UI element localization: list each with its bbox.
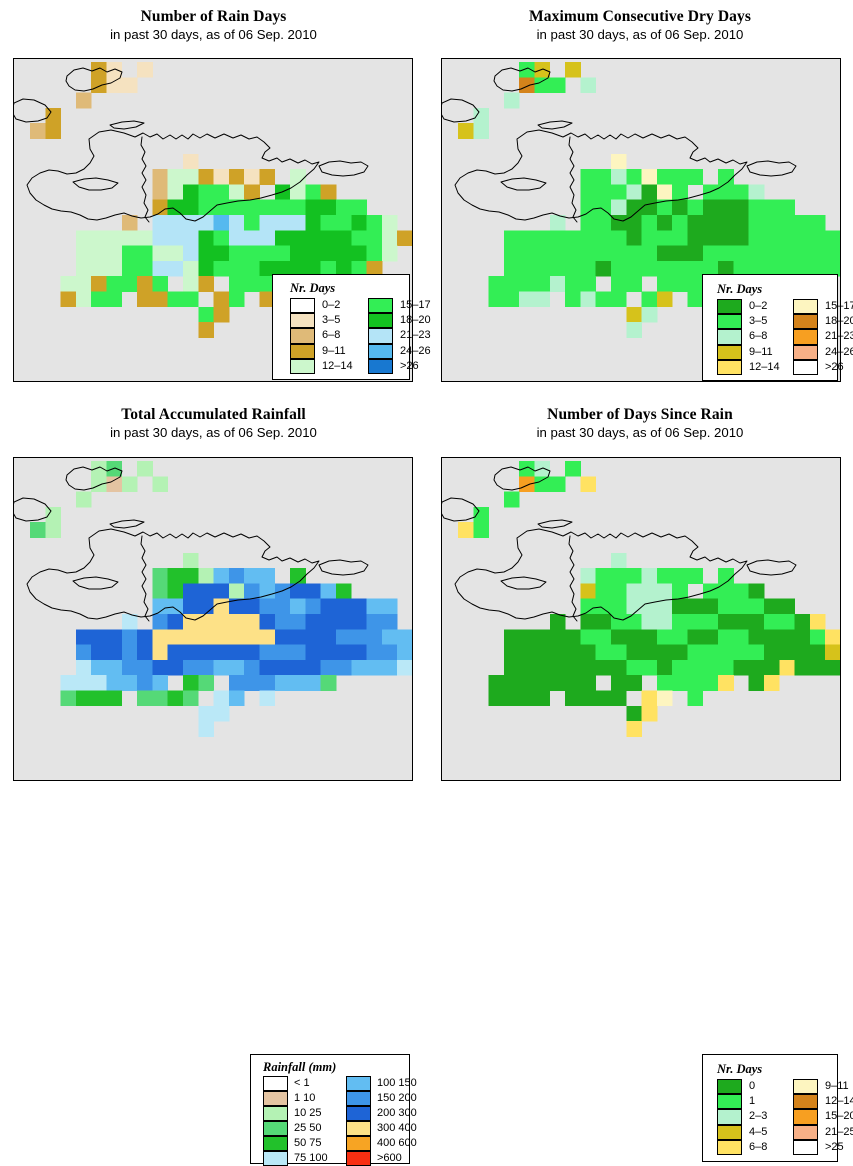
legend-swatch bbox=[263, 1106, 288, 1121]
heatmap-cell bbox=[703, 246, 719, 262]
heatmap-cell bbox=[504, 675, 520, 691]
heatmap-cell bbox=[642, 614, 658, 630]
heatmap-cell bbox=[596, 660, 612, 676]
heatmap-cell bbox=[229, 645, 245, 661]
heatmap-cell bbox=[764, 246, 780, 262]
legend-swatch bbox=[793, 1079, 818, 1094]
heatmap-cell bbox=[642, 307, 658, 323]
heatmap-cell bbox=[764, 614, 780, 630]
heatmap-cell bbox=[795, 215, 811, 231]
heatmap-cell bbox=[733, 629, 749, 645]
heatmap-cell bbox=[229, 276, 245, 292]
legend-entry: 75 100 bbox=[263, 1151, 346, 1166]
legend-label: 6–8 bbox=[742, 1140, 793, 1155]
heatmap-cell bbox=[260, 614, 276, 630]
heatmap-cell bbox=[244, 645, 260, 661]
legend-label: 9–11 bbox=[742, 345, 793, 360]
legend-label: 24–26 bbox=[818, 345, 853, 360]
heatmap-cell bbox=[321, 583, 337, 599]
heatmap-cell bbox=[168, 230, 184, 246]
heatmap-cell bbox=[91, 261, 107, 277]
heatmap-cell bbox=[45, 108, 61, 124]
heatmap-cell bbox=[535, 691, 551, 707]
heatmap-cell bbox=[580, 246, 596, 262]
heatmap-cell bbox=[504, 292, 520, 308]
heatmap-cell bbox=[749, 215, 765, 231]
heatmap-cell bbox=[275, 215, 291, 231]
legend-label: >26 bbox=[818, 360, 853, 375]
heatmap-cell bbox=[107, 660, 123, 676]
legend-entry: 15–17 bbox=[793, 299, 853, 314]
heatmap-cell bbox=[703, 215, 719, 231]
heatmap-cell bbox=[137, 675, 153, 691]
heatmap-cell bbox=[779, 660, 795, 676]
legend-entry: 1 10 bbox=[263, 1091, 346, 1106]
coastline-hispaniola-inner-bay bbox=[501, 178, 546, 190]
heatmap-cell bbox=[229, 215, 245, 231]
heatmap-cell bbox=[688, 292, 704, 308]
heatmap-cell bbox=[290, 629, 306, 645]
heatmap-cell bbox=[183, 660, 199, 676]
heatmap-cell bbox=[672, 614, 688, 630]
legend-columns: < 11 1010 2525 5050 7575 100100 150150 2… bbox=[263, 1076, 409, 1166]
heatmap-cell bbox=[626, 169, 642, 185]
legend-label: 15–17 bbox=[393, 298, 446, 313]
heatmap-cell bbox=[611, 169, 627, 185]
legend-entry: >25 bbox=[793, 1140, 853, 1155]
heatmap-cell bbox=[214, 568, 230, 584]
coastline-haiti-dr-border bbox=[569, 137, 577, 222]
heatmap-cell bbox=[535, 261, 551, 277]
legend-days-since-rain: Nr. Days 012–34–56–89–1112–1415–2021–25>… bbox=[702, 1054, 838, 1162]
heatmap-cell bbox=[260, 645, 276, 661]
heatmap-cell bbox=[397, 660, 413, 676]
heatmap-cell bbox=[168, 292, 184, 308]
heatmap-cell bbox=[152, 675, 168, 691]
coastline-haiti-dr-border bbox=[569, 536, 577, 621]
heatmap-cell bbox=[535, 276, 551, 292]
heatmap-cell bbox=[672, 599, 688, 615]
heatmap-cell bbox=[183, 276, 199, 292]
heatmap-cell bbox=[535, 292, 551, 308]
heatmap-cell bbox=[504, 93, 520, 109]
heatmap-cell bbox=[229, 184, 245, 200]
heatmap-cell bbox=[825, 230, 841, 246]
heatmap-cell bbox=[565, 276, 581, 292]
heatmap-cell bbox=[626, 568, 642, 584]
heatmap-cell bbox=[504, 261, 520, 277]
heatmap-cell bbox=[351, 660, 367, 676]
heatmap-cell bbox=[504, 492, 520, 508]
heatmap-cell bbox=[580, 476, 596, 492]
legend-label: 100 150 bbox=[371, 1076, 429, 1091]
heatmap-cell bbox=[550, 629, 566, 645]
heatmap-cell bbox=[703, 629, 719, 645]
heatmap-cell bbox=[152, 660, 168, 676]
heatmap-cell bbox=[152, 645, 168, 661]
heatmap-cell bbox=[626, 322, 642, 338]
heatmap-cell bbox=[688, 660, 704, 676]
heatmap-cell bbox=[611, 292, 627, 308]
heatmap-cell bbox=[580, 261, 596, 277]
heatmap-cell bbox=[749, 629, 765, 645]
map-heatmap-total-accumulated-rainfall bbox=[14, 458, 413, 781]
heatmap-cell bbox=[688, 614, 704, 630]
heatmap-cell bbox=[749, 645, 765, 661]
heatmap-cell bbox=[382, 599, 398, 615]
heatmap-cell bbox=[260, 215, 276, 231]
heatmap-cell bbox=[535, 645, 551, 661]
heatmap-cell bbox=[580, 169, 596, 185]
heatmap-cell bbox=[260, 169, 276, 185]
heatmap-cell bbox=[91, 461, 107, 477]
heatmap-cell bbox=[749, 184, 765, 200]
legend-entry: >26 bbox=[368, 359, 446, 374]
heatmap-cell bbox=[107, 292, 123, 308]
heatmap-cell bbox=[336, 230, 352, 246]
heatmap-cell bbox=[336, 246, 352, 262]
heatmap-cell bbox=[550, 276, 566, 292]
heatmap-cell bbox=[779, 246, 795, 262]
heatmap-cell bbox=[168, 184, 184, 200]
heatmap-cell bbox=[275, 200, 291, 216]
heatmap-cell bbox=[336, 660, 352, 676]
legend-swatch bbox=[290, 328, 315, 343]
heatmap-cell bbox=[779, 200, 795, 216]
legend-swatch bbox=[346, 1136, 371, 1151]
heatmap-cell bbox=[229, 614, 245, 630]
heatmap-cell bbox=[519, 476, 535, 492]
heatmap-cell bbox=[229, 691, 245, 707]
panel-subtitle: in past 30 days, as of 06 Sep. 2010 bbox=[0, 26, 427, 43]
legend-label: 150 200 bbox=[371, 1091, 429, 1106]
legend-entry: 9–11 bbox=[793, 1079, 853, 1094]
heatmap-cell bbox=[76, 675, 92, 691]
coastline-puerto-rico bbox=[747, 560, 796, 575]
heatmap-cell bbox=[657, 691, 673, 707]
heatmap-cell bbox=[703, 660, 719, 676]
heatmap-cell bbox=[458, 522, 474, 538]
heatmap-cell bbox=[122, 276, 138, 292]
heatmap-cell bbox=[122, 660, 138, 676]
heatmap-cell bbox=[183, 230, 199, 246]
heatmap-cell bbox=[275, 660, 291, 676]
heatmap-cell bbox=[657, 292, 673, 308]
heatmap-cell bbox=[168, 645, 184, 661]
heatmap-cell bbox=[565, 660, 581, 676]
heatmap-cell bbox=[550, 261, 566, 277]
heatmap-cell bbox=[749, 599, 765, 615]
heatmap-cell bbox=[244, 614, 260, 630]
map-heatmap-days-since-rain bbox=[442, 458, 841, 781]
heatmap-cell bbox=[657, 169, 673, 185]
legend-label: >26 bbox=[393, 359, 446, 374]
heatmap-cell bbox=[137, 691, 153, 707]
heatmap-cell bbox=[107, 476, 123, 492]
legend-label: 0–2 bbox=[742, 299, 793, 314]
heatmap-cell bbox=[229, 261, 245, 277]
heatmap-cell bbox=[795, 246, 811, 262]
coastline-puerto-rico bbox=[319, 161, 368, 176]
heatmap-cell bbox=[76, 246, 92, 262]
legend-entry: 6–8 bbox=[290, 328, 368, 343]
map-canvas-days-since-rain[interactable] bbox=[441, 457, 841, 781]
legend-entry: 0 bbox=[717, 1079, 793, 1094]
legend-entry: >600 bbox=[346, 1151, 429, 1166]
heatmap-cell bbox=[290, 599, 306, 615]
heatmap-cell bbox=[504, 660, 520, 676]
heatmap-cell bbox=[168, 261, 184, 277]
heatmap-cell bbox=[580, 292, 596, 308]
heatmap-cell bbox=[642, 706, 658, 722]
heatmap-cell bbox=[810, 660, 826, 676]
heatmap-cell bbox=[779, 599, 795, 615]
heatmap-cell bbox=[657, 261, 673, 277]
heatmap-cell bbox=[168, 660, 184, 676]
coastline-hispaniola-inner-bay bbox=[501, 577, 546, 589]
legend-label: 50 75 bbox=[288, 1136, 346, 1151]
heatmap-cell bbox=[229, 629, 245, 645]
heatmap-cell bbox=[703, 675, 719, 691]
heatmap-cell bbox=[672, 629, 688, 645]
heatmap-cell bbox=[733, 599, 749, 615]
legend-entry: 21–23 bbox=[368, 328, 446, 343]
heatmap-cell bbox=[198, 215, 214, 231]
legend-entry: 10 25 bbox=[263, 1106, 346, 1121]
heatmap-cell bbox=[626, 614, 642, 630]
heatmap-cell bbox=[152, 215, 168, 231]
legend-swatch bbox=[290, 359, 315, 374]
heatmap-cell bbox=[183, 568, 199, 584]
heatmap-cells bbox=[30, 461, 413, 737]
legend-label: 21–23 bbox=[818, 329, 853, 344]
legend-entry: 24–26 bbox=[368, 344, 446, 359]
heatmap-cell bbox=[107, 246, 123, 262]
heatmap-cell bbox=[397, 230, 413, 246]
heatmap-cell bbox=[749, 614, 765, 630]
heatmap-cell bbox=[688, 629, 704, 645]
heatmap-cell bbox=[152, 614, 168, 630]
legend-column: 15–1718–2021–2324–26>26 bbox=[368, 298, 446, 374]
heatmap-cell bbox=[642, 169, 658, 185]
heatmap-cell bbox=[672, 169, 688, 185]
heatmap-cell bbox=[519, 645, 535, 661]
heatmap-cell bbox=[321, 660, 337, 676]
heatmap-cell bbox=[305, 184, 321, 200]
heatmap-cell bbox=[519, 461, 535, 477]
heatmap-cell bbox=[76, 691, 92, 707]
heatmap-cell bbox=[565, 62, 581, 78]
heatmap-cell bbox=[749, 660, 765, 676]
heatmap-cell bbox=[688, 261, 704, 277]
heatmap-cell bbox=[30, 522, 46, 538]
heatmap-cell bbox=[535, 461, 551, 477]
heatmap-cell bbox=[382, 660, 398, 676]
heatmap-cell bbox=[45, 507, 61, 523]
heatmap-cell bbox=[122, 77, 138, 93]
heatmap-cell bbox=[367, 629, 383, 645]
heatmap-cell bbox=[321, 599, 337, 615]
heatmap-cell bbox=[168, 614, 184, 630]
legend-entry: 50 75 bbox=[263, 1136, 346, 1151]
heatmap-cell bbox=[611, 230, 627, 246]
legend-swatch bbox=[368, 344, 393, 359]
heatmap-cell bbox=[91, 62, 107, 78]
legend-label: 9–11 bbox=[315, 344, 368, 359]
heatmap-cell bbox=[198, 322, 214, 338]
panel-days-since-rain: Number of Days Since Rain in past 30 day… bbox=[427, 396, 853, 793]
legend-label: 18–20 bbox=[393, 313, 446, 328]
heatmap-cell bbox=[733, 583, 749, 599]
heatmap-cell bbox=[642, 184, 658, 200]
heatmap-cell bbox=[168, 246, 184, 262]
heatmap-cell bbox=[45, 522, 61, 538]
heatmap-cell bbox=[152, 261, 168, 277]
panel-subtitle: in past 30 days, as of 06 Sep. 2010 bbox=[0, 424, 427, 441]
heatmap-cell bbox=[718, 169, 734, 185]
heatmap-cell bbox=[214, 691, 230, 707]
heatmap-cell bbox=[672, 246, 688, 262]
heatmap-cell bbox=[657, 645, 673, 661]
heatmap-cell bbox=[367, 614, 383, 630]
heatmap-cell bbox=[519, 691, 535, 707]
heatmap-cell bbox=[244, 261, 260, 277]
heatmap-cell bbox=[229, 292, 245, 308]
heatmap-cell bbox=[198, 230, 214, 246]
legend-swatch bbox=[717, 1094, 742, 1109]
legend-entry: 0–2 bbox=[290, 298, 368, 313]
heatmap-cell bbox=[275, 629, 291, 645]
heatmap-cell bbox=[580, 629, 596, 645]
legend-entry: 200 300 bbox=[346, 1106, 429, 1121]
legend-column: 0–23–56–89–1112–14 bbox=[290, 298, 368, 374]
heatmap-cell bbox=[642, 246, 658, 262]
heatmap-cell bbox=[198, 614, 214, 630]
heatmap-cell bbox=[382, 629, 398, 645]
heatmap-cell bbox=[550, 660, 566, 676]
heatmap-cell bbox=[61, 276, 77, 292]
legend-label: 3–5 bbox=[742, 314, 793, 329]
heatmap-cell bbox=[122, 230, 138, 246]
heatmap-cell bbox=[244, 184, 260, 200]
heatmap-cell bbox=[810, 629, 826, 645]
heatmap-cell bbox=[688, 691, 704, 707]
heatmap-cell bbox=[152, 568, 168, 584]
heatmap-cell bbox=[214, 215, 230, 231]
legend-column: < 11 1010 2525 5050 7575 100 bbox=[263, 1076, 346, 1166]
legend-label: 200 300 bbox=[371, 1106, 429, 1121]
heatmap-cell bbox=[397, 629, 413, 645]
heatmap-cell bbox=[61, 675, 77, 691]
heatmap-cell bbox=[91, 691, 107, 707]
heatmap-cell bbox=[107, 77, 123, 93]
heatmap-cell bbox=[107, 691, 123, 707]
heatmap-cell bbox=[642, 292, 658, 308]
legend-swatch bbox=[793, 1140, 818, 1155]
legend-entry: 25 50 bbox=[263, 1121, 346, 1136]
heatmap-cell bbox=[550, 77, 566, 93]
heatmap-cell bbox=[45, 123, 61, 139]
heatmap-cell bbox=[183, 583, 199, 599]
heatmap-cell bbox=[275, 614, 291, 630]
heatmap-cell bbox=[76, 230, 92, 246]
legend-swatch bbox=[793, 345, 818, 360]
heatmap-cell bbox=[688, 169, 704, 185]
heatmap-cell bbox=[718, 629, 734, 645]
heatmap-cell bbox=[122, 675, 138, 691]
heatmap-cell bbox=[489, 276, 505, 292]
legend-label: 4–5 bbox=[742, 1125, 793, 1140]
heatmap-cell bbox=[107, 645, 123, 661]
coastline-haiti-dr-border bbox=[141, 536, 149, 621]
heatmap-cell bbox=[168, 599, 184, 615]
heatmap-cell bbox=[535, 476, 551, 492]
heatmap-cell bbox=[305, 645, 321, 661]
legend-swatch bbox=[717, 329, 742, 344]
heatmap-cell bbox=[260, 246, 276, 262]
heatmap-cell bbox=[244, 568, 260, 584]
heatmap-cell bbox=[137, 629, 153, 645]
heatmap-cell bbox=[580, 77, 596, 93]
heatmap-cell bbox=[305, 629, 321, 645]
heatmap-cell bbox=[519, 660, 535, 676]
heatmap-cell bbox=[321, 215, 337, 231]
heatmap-cell bbox=[519, 276, 535, 292]
heatmap-cell bbox=[91, 675, 107, 691]
heatmap-cell bbox=[168, 568, 184, 584]
heatmap-cell bbox=[275, 645, 291, 661]
legend-label: 6–8 bbox=[315, 328, 368, 343]
legend-swatch bbox=[263, 1151, 288, 1166]
legend-label: >25 bbox=[818, 1140, 853, 1155]
heatmap-cell bbox=[718, 568, 734, 584]
heatmap-cell bbox=[76, 660, 92, 676]
heatmap-cell bbox=[91, 77, 107, 93]
heatmap-cell bbox=[672, 184, 688, 200]
heatmap-cell bbox=[626, 230, 642, 246]
heatmap-cell bbox=[489, 691, 505, 707]
legend-swatch bbox=[717, 1109, 742, 1124]
heatmap-cell bbox=[152, 292, 168, 308]
heatmap-cell bbox=[305, 675, 321, 691]
legend-swatch bbox=[263, 1091, 288, 1106]
heatmap-cell bbox=[244, 599, 260, 615]
heatmap-cell bbox=[596, 583, 612, 599]
heatmap-cell bbox=[397, 645, 413, 661]
heatmap-cell bbox=[749, 583, 765, 599]
heatmap-cell bbox=[718, 645, 734, 661]
heatmap-cell bbox=[580, 184, 596, 200]
legend-swatch bbox=[346, 1076, 371, 1091]
heatmap-cell bbox=[611, 583, 627, 599]
heatmap-cell bbox=[214, 184, 230, 200]
legend-label: < 1 bbox=[288, 1076, 346, 1091]
heatmap-cell bbox=[565, 230, 581, 246]
heatmap-cell bbox=[367, 246, 383, 262]
heatmap-cell bbox=[183, 261, 199, 277]
heatmap-cell bbox=[580, 614, 596, 630]
heatmap-cell bbox=[198, 629, 214, 645]
heatmap-cell bbox=[611, 215, 627, 231]
legend-swatch bbox=[793, 1094, 818, 1109]
heatmap-cell bbox=[580, 645, 596, 661]
map-canvas-total-accumulated-rainfall[interactable] bbox=[13, 457, 413, 781]
heatmap-cell bbox=[198, 200, 214, 216]
heatmap-cell bbox=[214, 230, 230, 246]
heatmap-cell bbox=[504, 246, 520, 262]
heatmap-cell bbox=[183, 675, 199, 691]
heatmap-cell bbox=[107, 261, 123, 277]
